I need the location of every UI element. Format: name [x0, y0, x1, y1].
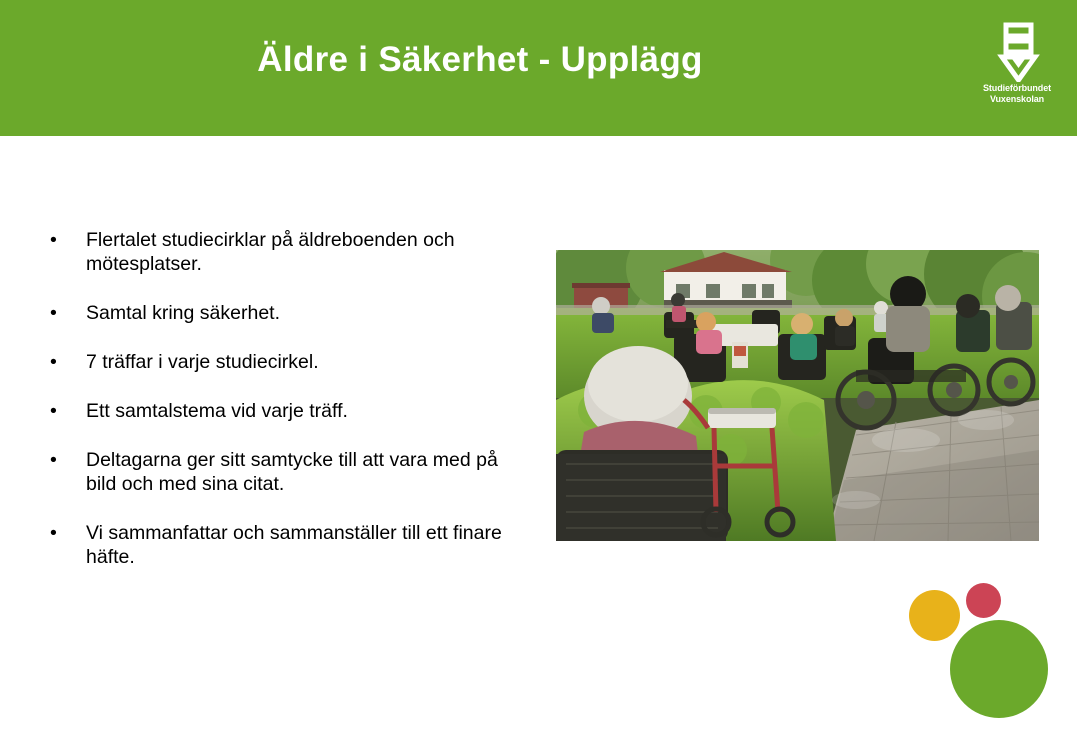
slide-canvas: Äldre i Säkerhet - Upplägg Studieförbund… — [0, 0, 1077, 738]
list-item: • Flertalet studiecirklar på äldreboende… — [44, 228, 532, 276]
logo-wordmark: Studieförbundet Vuxenskolan — [975, 83, 1059, 105]
bullet-marker-icon: • — [50, 301, 60, 325]
logo-line-1: Studieförbundet — [975, 83, 1059, 94]
decorative-circle-yellow — [909, 590, 960, 641]
list-item: • Ett samtalstema vid varje träff. — [44, 399, 532, 423]
list-item-text: Vi sammanfattar och sammanställer till e… — [86, 521, 532, 569]
list-item: • Vi sammanfattar och sammanställer till… — [44, 521, 532, 569]
bullet-list: • Flertalet studiecirklar på äldreboende… — [44, 228, 532, 569]
decorative-circle-red — [966, 583, 1001, 618]
list-item: • Samtal kring säkerhet. — [44, 301, 532, 325]
bullet-marker-icon: • — [50, 228, 60, 252]
page-title: Äldre i Säkerhet - Upplägg — [0, 38, 960, 82]
list-item-text: Deltagarna ger sitt samtycke till att va… — [86, 448, 532, 496]
list-item: • 7 träffar i varje studiecirkel. — [44, 350, 532, 374]
list-item-text: Samtal kring säkerhet. — [86, 301, 532, 325]
bullet-marker-icon: • — [50, 350, 60, 374]
bullet-marker-icon: • — [50, 521, 60, 545]
list-item-text: Ett samtalstema vid varje träff. — [86, 399, 532, 423]
logo-line-2: Vuxenskolan — [975, 94, 1059, 105]
list-item: • Deltagarna ger sitt samtycke till att … — [44, 448, 532, 496]
decorative-circle-green — [950, 620, 1048, 718]
list-item-text: 7 träffar i varje studiecirkel. — [86, 350, 532, 374]
sv-logo: Studieförbundet Vuxenskolan — [975, 20, 1059, 112]
bullet-marker-icon: • — [50, 448, 60, 472]
sv-monogram-icon — [975, 20, 1059, 82]
bullet-marker-icon: • — [50, 399, 60, 423]
list-item-text: Flertalet studiecirklar på äldreboenden … — [86, 228, 532, 276]
slide-photo — [556, 250, 1039, 541]
